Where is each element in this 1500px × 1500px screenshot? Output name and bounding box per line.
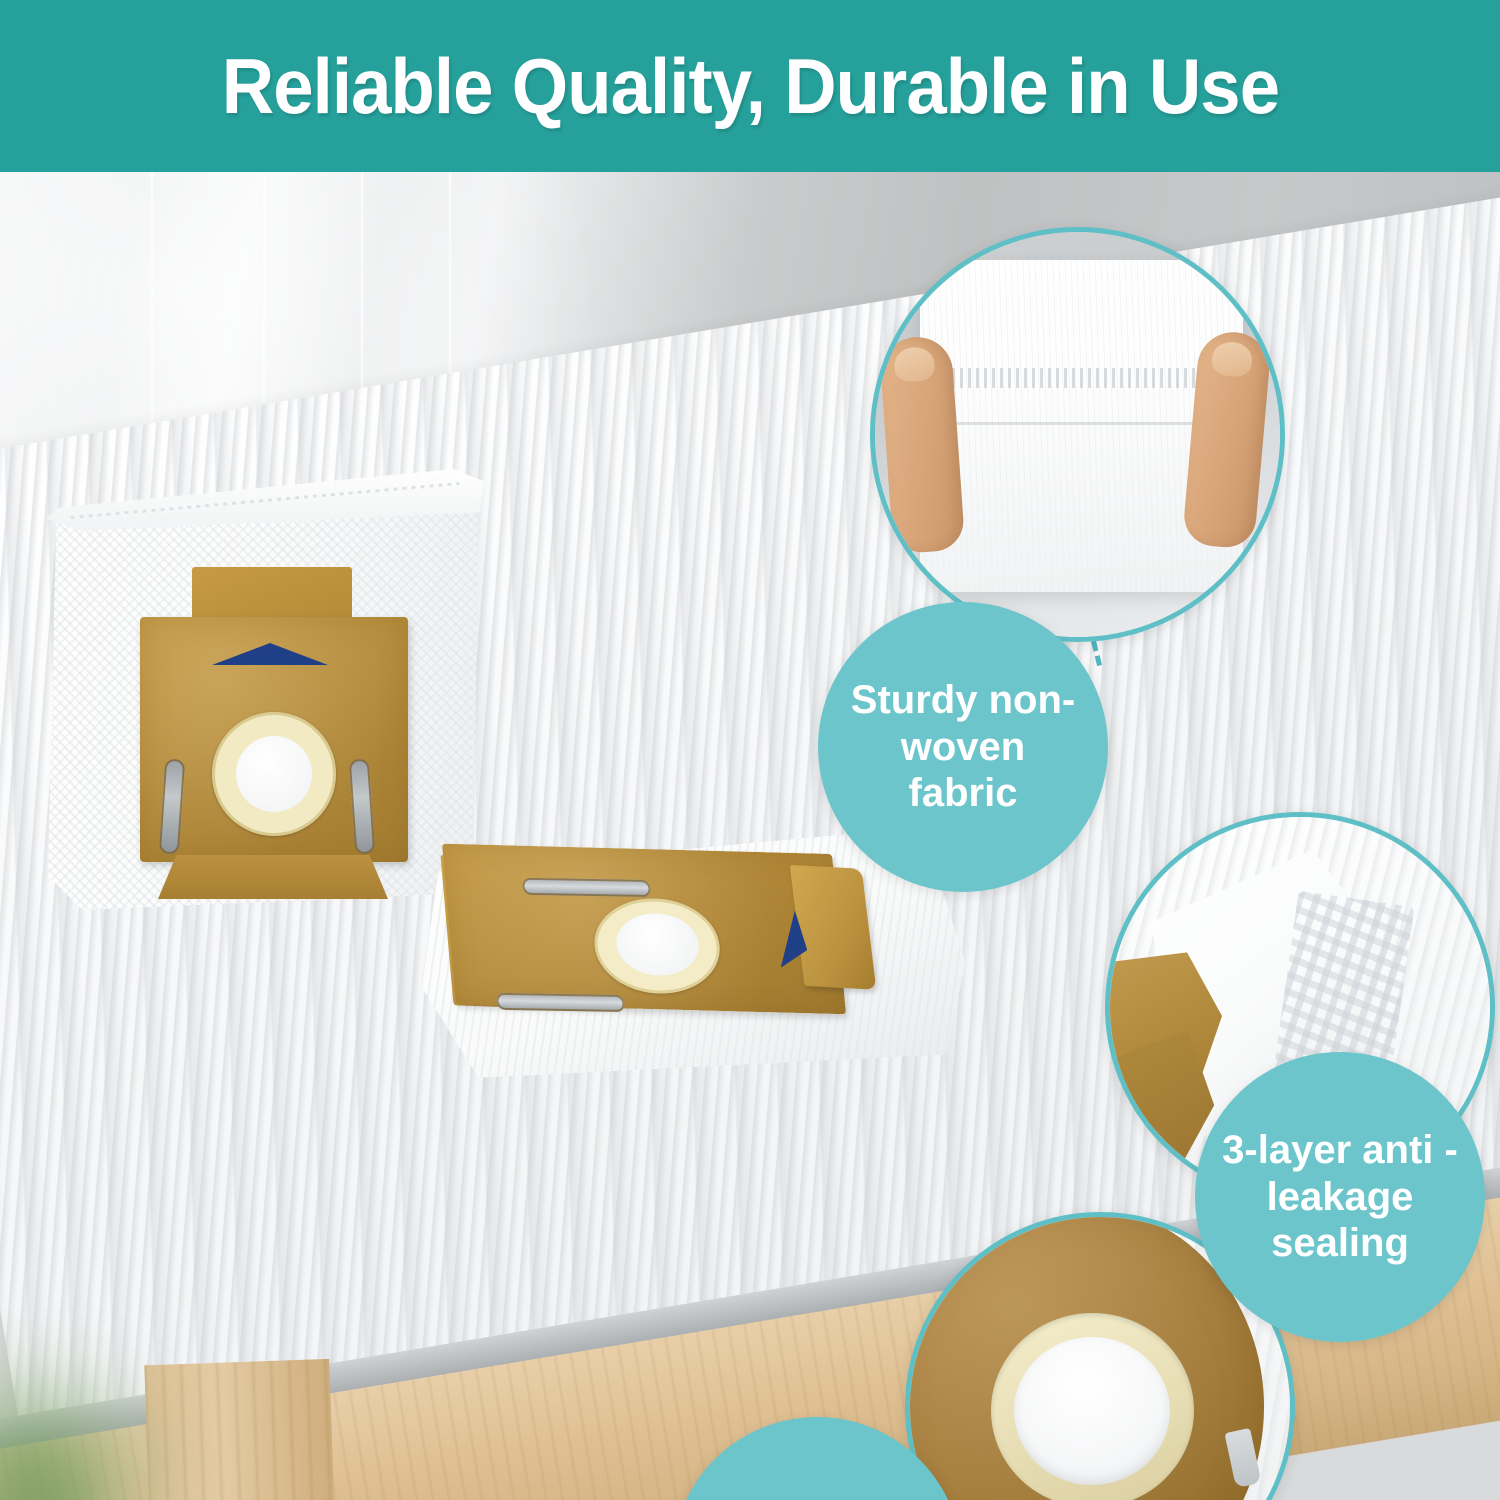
callout-text: Sturdy non-woven fabric	[846, 677, 1080, 816]
product-photo-scene: Sturdy non-woven fabric 3-layer anti - l…	[0, 172, 1500, 1500]
callout-text: 3-layer anti - leakage sealing	[1213, 1127, 1467, 1266]
blurred-plant-leaf	[0, 1412, 240, 1500]
cardboard-foot	[158, 855, 388, 899]
suction-hole	[236, 736, 312, 812]
hand-left	[879, 335, 966, 554]
flat-mounting-slot-top	[522, 878, 651, 897]
callout-label-fabric: Sturdy non-woven fabric	[818, 602, 1108, 892]
thumbnail	[1211, 340, 1254, 377]
inset-photo-background	[870, 227, 1285, 642]
callout-text: Latex sealing ring	[696, 1494, 938, 1500]
inset-photo-non-woven-fabric	[870, 227, 1285, 642]
flat-mounting-slot-bottom	[496, 993, 625, 1012]
callout-label-layer: 3-layer anti - leakage sealing	[1195, 1052, 1485, 1342]
page-title: Reliable Quality, Durable in Use	[221, 41, 1278, 132]
thumbnail	[893, 346, 935, 383]
flat-cardboard-fold	[790, 865, 877, 990]
header-banner: Reliable Quality, Durable in Use	[0, 0, 1500, 172]
fabric-crease	[928, 422, 1235, 425]
fabric-opening	[1014, 1337, 1170, 1485]
fabric-perforation-band	[928, 368, 1235, 388]
